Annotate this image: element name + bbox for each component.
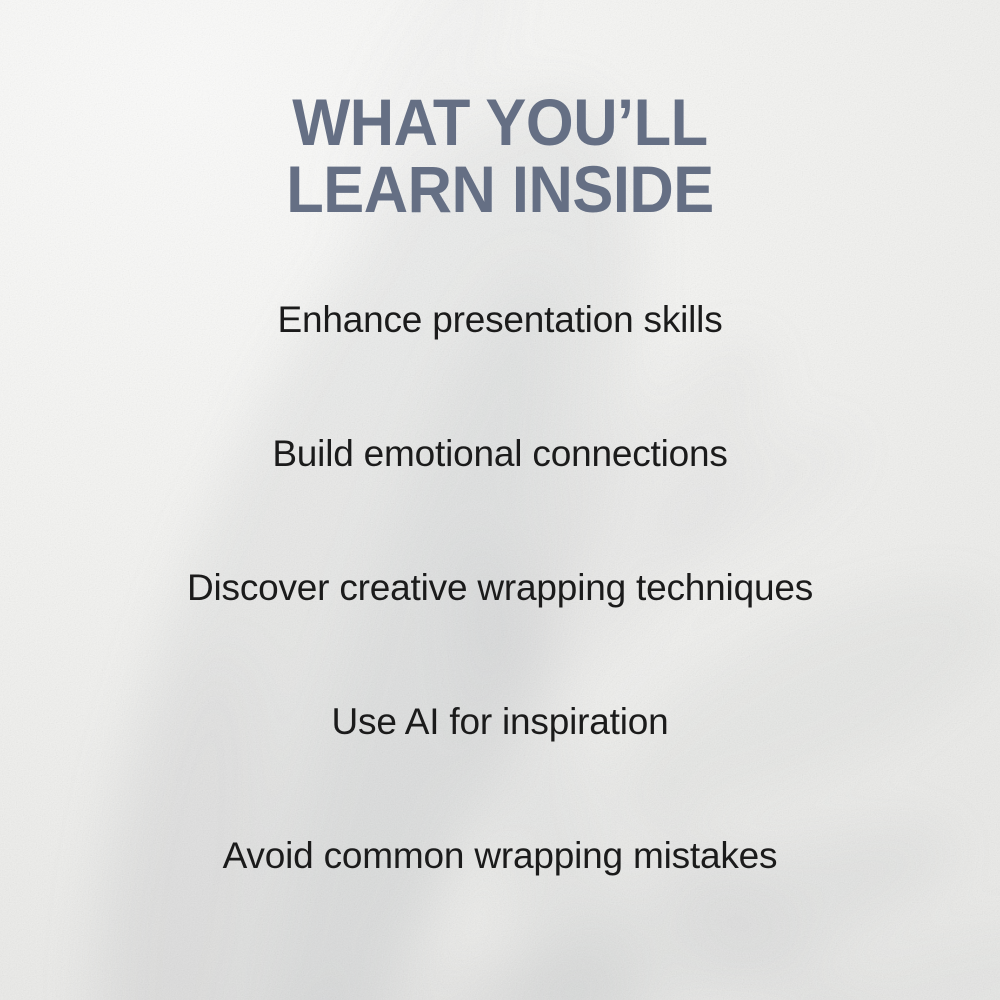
list-item: Enhance presentation skills [0, 296, 1000, 344]
list-item: Use AI for inspiration [0, 698, 1000, 746]
poster-canvas: WHAT YOU’LL LEARN INSIDE Enhance present… [0, 0, 1000, 1000]
list-item: Build emotional connections [0, 430, 1000, 478]
benefit-label: Discover creative wrapping techniques [187, 568, 813, 609]
list-item: Discover creative wrapping techniques [0, 564, 1000, 612]
benefit-label: Build emotional connections [272, 434, 727, 475]
benefit-label: Avoid common wrapping mistakes [223, 836, 778, 877]
benefits-list: Enhance presentation skills Build emotio… [0, 296, 1000, 880]
list-item: Avoid common wrapping mistakes [0, 832, 1000, 880]
page-title: WHAT YOU’LL LEARN INSIDE [258, 0, 742, 223]
poster-content: WHAT YOU’LL LEARN INSIDE Enhance present… [0, 0, 1000, 1000]
page-title-line-2: LEARN INSIDE [258, 157, 742, 222]
benefit-label: Use AI for inspiration [332, 702, 669, 743]
page-title-line-1: WHAT YOU’LL [258, 90, 742, 155]
benefit-label: Enhance presentation skills [277, 300, 722, 341]
